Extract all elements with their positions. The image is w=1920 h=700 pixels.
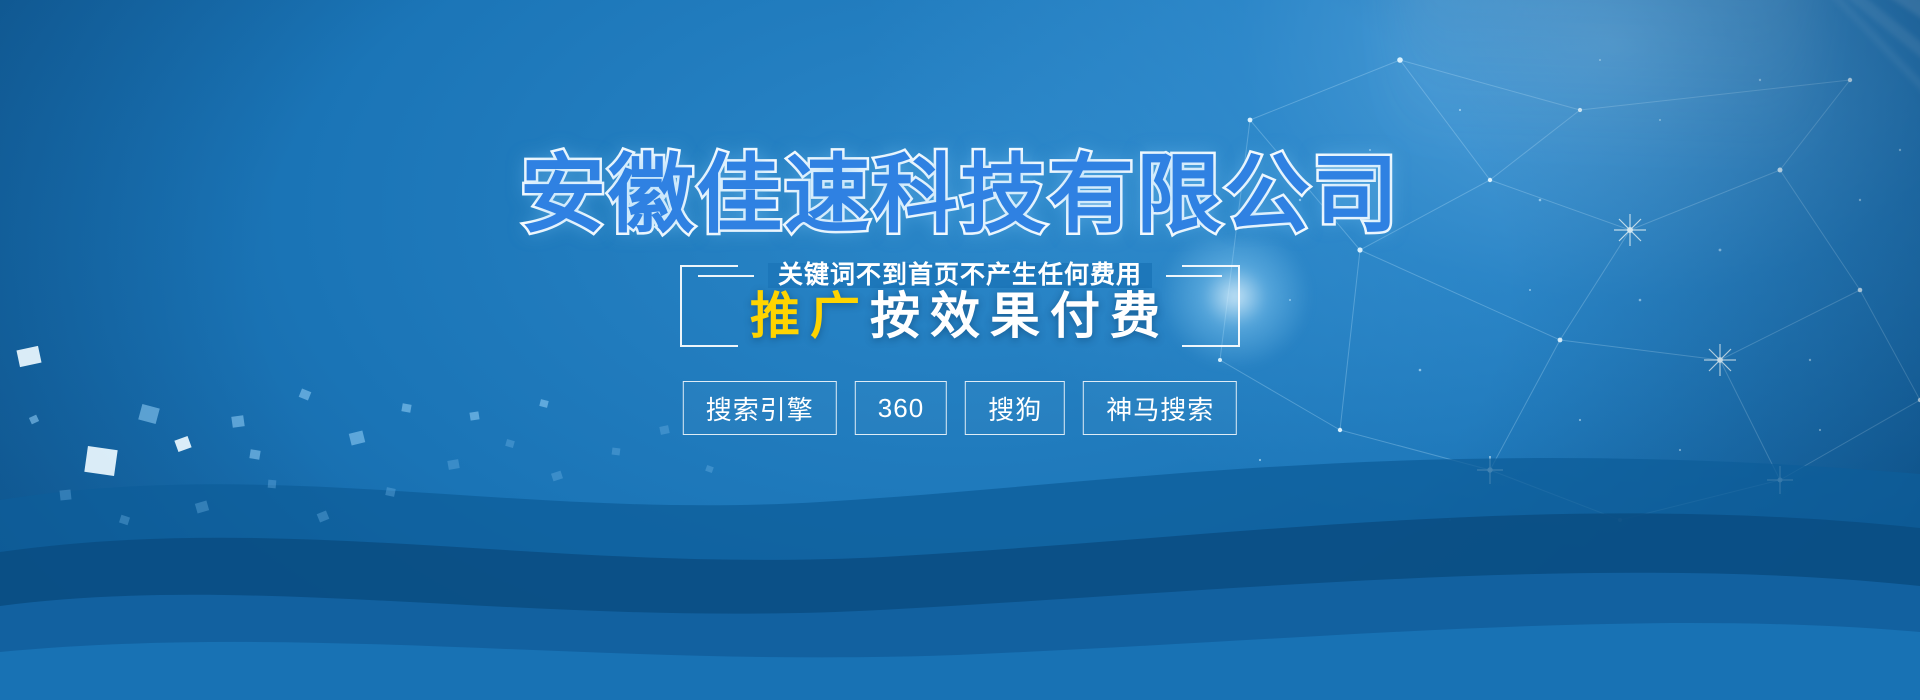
banner-content: 安徽佳速科技有限公司 关键词不到首页不产生任何费用 推广按效果付费 搜索引擎 3… [0, 0, 1920, 700]
engine-button-shenma[interactable]: 神马搜索 [1083, 381, 1237, 435]
headline-accent-text: 推广 [750, 288, 870, 344]
page-title: 安徽佳速科技有限公司 [0, 152, 1920, 238]
search-engine-list: 搜索引擎 360 搜狗 神马搜索 [683, 381, 1237, 435]
subtitle-row: 关键词不到首页不产生任何费用 [698, 263, 1222, 288]
headline-main-text: 按效果付费 [870, 288, 1170, 344]
banner-headline: 推广按效果付费 [750, 289, 1170, 343]
engine-button-search-engine[interactable]: 搜索引擎 [683, 381, 837, 435]
engine-button-360[interactable]: 360 [855, 381, 947, 435]
divider-dash-right [1166, 275, 1222, 277]
banner-subtitle: 关键词不到首页不产生任何费用 [768, 263, 1152, 288]
hero-banner: 安徽佳速科技有限公司 关键词不到首页不产生任何费用 推广按效果付费 搜索引擎 3… [0, 0, 1920, 700]
promo-frame-block: 关键词不到首页不产生任何费用 推广按效果付费 [680, 265, 1240, 343]
engine-button-sogou[interactable]: 搜狗 [965, 381, 1065, 435]
divider-dash-left [698, 275, 754, 277]
